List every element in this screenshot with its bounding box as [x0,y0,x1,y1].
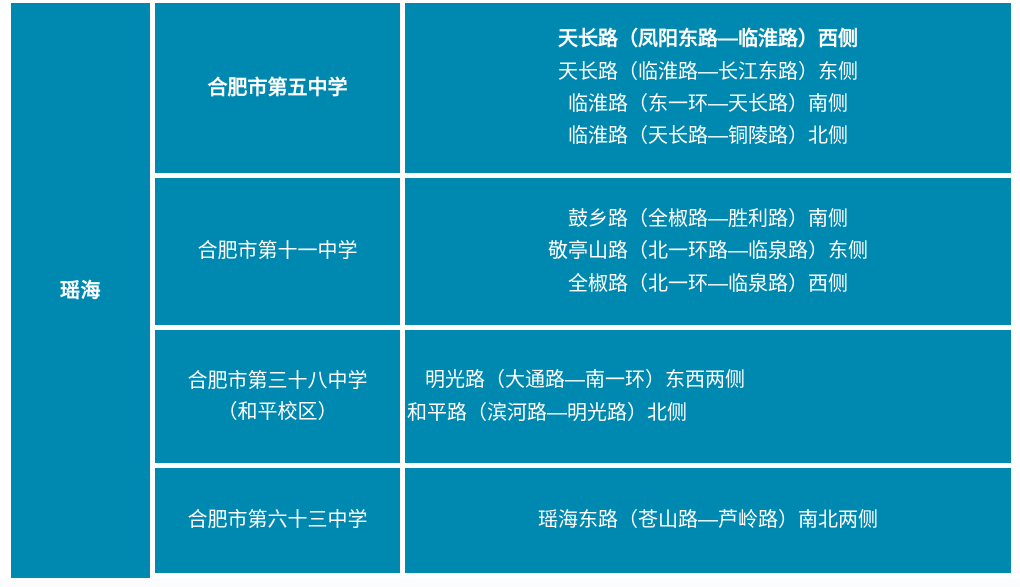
street-line: 明光路（大通路—南一环）东西两侧 [407,364,745,396]
district-cell-yaohai: 瑶海 [11,3,150,578]
street-list-cell: 鼓乡路（全椒路—胜利路）南侧 敬亭山路（北一环路—临泉路）东侧 全椒路（北一环—… [405,178,1011,325]
street-line: 天长路（临淮路—长江东路）东侧 [558,56,858,88]
school-name-cell: 合肥市第十一中学 [155,178,400,325]
street-line: 鼓乡路（全椒路—胜利路）南侧 [568,203,848,235]
page-root: 瑶海 合肥市第五中学 天长路（凤阳东路—临淮路）西侧 天长路（临淮路—长江东路）… [0,0,1020,587]
table-row: 合肥市第五中学 天长路（凤阳东路—临淮路）西侧 天长路（临淮路—长江东路）东侧 … [155,3,1011,173]
street-line: 瑶海东路（苍山路—芦岭路）南北两侧 [538,504,878,536]
street-line: 临淮路（天长路—铜陵路）北侧 [568,120,848,152]
table-row: 合肥市第三十八中学（和平校区） 明光路（大通路—南一环）东西两侧 和平路（滨河路… [155,330,1011,463]
street-list-cell: 明光路（大通路—南一环）东西两侧 和平路（滨河路—明光路）北侧 [405,330,1011,463]
table-row: 合肥市第六十三中学 瑶海东路（苍山路—芦岭路）南北两侧 [155,468,1011,573]
street-line: 敬亭山路（北一环路—临泉路）东侧 [548,235,868,267]
street-list-cell: 天长路（凤阳东路—临淮路）西侧 天长路（临淮路—长江东路）东侧 临淮路（东一环—… [405,3,1011,173]
table-row: 合肥市第十一中学 鼓乡路（全椒路—胜利路）南侧 敬亭山路（北一环路—临泉路）东侧… [155,178,1011,325]
table-rows-container: 合肥市第五中学 天长路（凤阳东路—临淮路）西侧 天长路（临淮路—长江东路）东侧 … [155,3,1011,578]
school-name-cell: 合肥市第三十八中学（和平校区） [155,330,400,463]
school-district-table: 瑶海 合肥市第五中学 天长路（凤阳东路—临淮路）西侧 天长路（临淮路—长江东路）… [11,3,1011,578]
page-bottom-edge [0,578,1020,587]
school-name-cell: 合肥市第五中学 [155,3,400,173]
street-list-cell: 瑶海东路（苍山路—芦岭路）南北两侧 [405,468,1011,573]
street-line: 全椒路（北一环—临泉路）西侧 [568,268,848,300]
school-name-cell: 合肥市第六十三中学 [155,468,400,573]
street-line: 临淮路（东一环—天长路）南侧 [568,88,848,120]
street-line: 天长路（凤阳东路—临淮路）西侧 [558,23,858,55]
street-line: 和平路（滨河路—明光路）北侧 [407,397,687,429]
district-label: 瑶海 [60,278,101,304]
